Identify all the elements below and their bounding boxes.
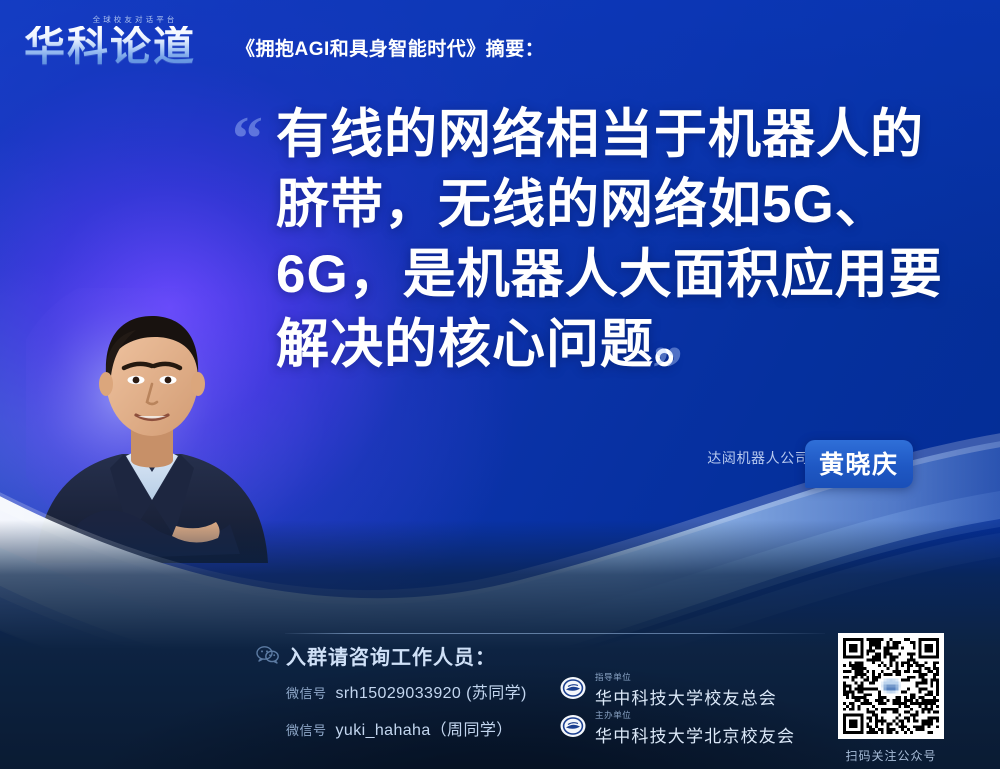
wechat-icon: [256, 645, 280, 670]
organization-name: 华中科技大学校友总会: [595, 684, 777, 709]
join-instruction: 入群请咨询工作人员：: [286, 641, 496, 670]
contact-label: 微信号: [286, 720, 327, 739]
university-seal-icon: [560, 675, 586, 706]
contact-row: 微信号 yuki_hahaha（周同学）: [286, 716, 513, 740]
brand-logo: 全球校友对话平台 华科论道: [24, 14, 220, 67]
brand-tagline: 全球校友对话平台: [50, 14, 220, 25]
quote-text: 有线的网络相当于机器人的 脐带，无线的网络如5G、 6G，是机器人大面积应用要 …: [276, 100, 966, 380]
organization-row: 指导单位 华中科技大学校友总会: [560, 671, 777, 709]
quote-line: 6G，是机器人大面积应用要: [276, 240, 966, 310]
organization-text: 主办单位 华中科技大学北京校友会: [595, 709, 795, 747]
quote-line: 解决的核心问题。: [276, 310, 966, 380]
quote-open-mark: “: [232, 108, 263, 170]
speaker-name: 黄晓庆: [819, 451, 899, 479]
qr-caption: 扫码关注公众号: [838, 747, 944, 764]
quote-close-mark: ”: [652, 338, 683, 400]
organization-text: 指导单位 华中科技大学校友总会: [595, 671, 777, 709]
quote-line: 脐带，无线的网络如5G、: [276, 170, 966, 240]
contact-value[interactable]: srh15029033920 (苏同学): [336, 679, 527, 703]
speaker-name-badge: 黄晓庆: [805, 440, 913, 488]
page-title: 《拥抱AGI和具身智能时代》摘要：: [236, 34, 544, 67]
organization-name: 华中科技大学北京校友会: [595, 722, 795, 747]
qr-code-block: 扫码关注公众号: [838, 633, 944, 764]
organization-kicker: 指导单位: [595, 671, 777, 683]
poster-canvas: 全球校友对话平台 华科论道 《拥抱AGI和具身智能时代》摘要： “ 有线的网络相…: [0, 0, 1000, 769]
qr-code[interactable]: [838, 633, 944, 739]
contact-label: 微信号: [286, 683, 327, 702]
contact-row: 微信号 srh15029033920 (苏同学): [286, 679, 527, 703]
quote-line: 有线的网络相当于机器人的: [276, 100, 966, 170]
university-seal-icon: [560, 713, 586, 744]
brand-name: 华科论道: [24, 26, 220, 67]
organization-row: 主办单位 华中科技大学北京校友会: [560, 709, 795, 747]
organization-kicker: 主办单位: [595, 709, 795, 721]
bottom-divider: [285, 633, 825, 634]
poster-header: 全球校友对话平台 华科论道 《拥抱AGI和具身智能时代》摘要：: [24, 14, 544, 67]
contact-value[interactable]: yuki_hahaha（周同学）: [336, 716, 513, 740]
